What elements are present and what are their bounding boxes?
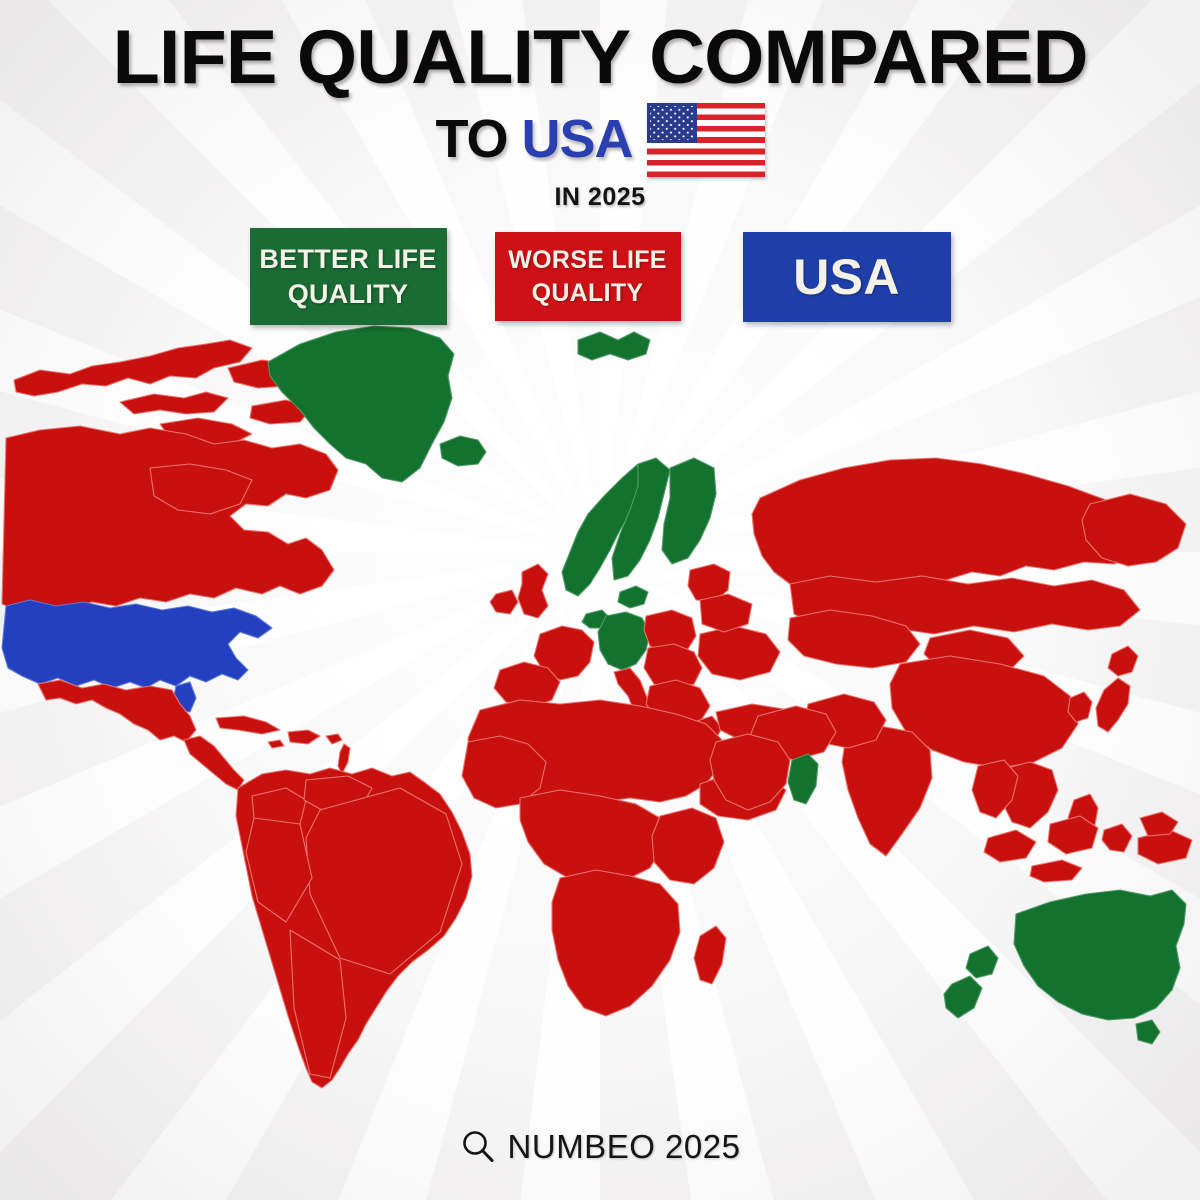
search-icon — [460, 1129, 496, 1165]
source-text: NUMBEO 2025 — [508, 1128, 741, 1166]
country-tasmania — [1136, 1020, 1160, 1044]
country-africa-central — [520, 790, 664, 884]
legend: BETTER LIFE QUALITY WORSE LIFE QUALITY U… — [0, 228, 1200, 325]
subtitle-usa-word: USA — [522, 109, 633, 169]
country-oman — [788, 754, 818, 804]
legend-item-worse-life-quality[interactable]: WORSE LIFE QUALITY — [495, 232, 681, 321]
country-denmark — [618, 586, 648, 608]
country-mexico — [38, 680, 196, 742]
country-africa-east — [652, 808, 724, 884]
flag-canton — [647, 103, 697, 143]
country-germany — [598, 612, 650, 670]
map-region-asia — [710, 458, 1192, 882]
country-cuba — [216, 716, 280, 734]
subtitle-row: TO USA — [0, 101, 1200, 177]
country-canada — [2, 426, 338, 610]
country-puerto-rico — [326, 734, 342, 744]
infographic-canvas: LIFE QUALITY COMPARED TO USA IN 2025 BET… — [0, 0, 1200, 1200]
source-attribution: NUMBEO 2025 — [0, 1128, 1200, 1166]
flag-stars — [650, 106, 694, 140]
world-map: .w{fill:#c8100f;stroke:#ea736d;stroke-wi… — [0, 318, 1200, 1108]
country-iceland — [440, 436, 486, 466]
country-central-america — [184, 736, 244, 790]
subtitle-prefix: TO — [435, 109, 507, 169]
country-canada-island-1 — [120, 392, 228, 414]
country-papua-new-guinea — [1138, 830, 1192, 864]
country-sulawesi — [1102, 824, 1132, 852]
country-ukraine — [698, 626, 780, 680]
country-new-zealand-north — [966, 946, 998, 978]
legend-worse-label-line2: QUALITY — [532, 277, 644, 310]
country-japan — [1096, 678, 1130, 732]
country-australia — [1014, 890, 1186, 1020]
map-region-south-america — [236, 768, 472, 1088]
page-title: LIFE QUALITY COMPARED — [0, 0, 1200, 95]
country-japan-north — [1108, 646, 1138, 676]
country-hispaniola — [288, 730, 320, 744]
legend-item-better-life-quality[interactable]: BETTER LIFE QUALITY — [250, 228, 447, 325]
world-map-svg: .w{fill:#c8100f;stroke:#ea736d;stroke-wi… — [0, 318, 1200, 1108]
country-svalbard — [578, 332, 650, 360]
country-jamaica — [268, 740, 284, 748]
country-new-zealand-south — [944, 976, 982, 1018]
header: LIFE QUALITY COMPARED TO USA IN 2025 — [0, 0, 1200, 212]
country-united-kingdom — [518, 564, 548, 618]
map-region-north-america — [0, 318, 486, 790]
country-belarus — [700, 594, 752, 632]
country-lesser-antilles — [338, 744, 350, 774]
country-finland — [662, 458, 716, 564]
legend-item-usa[interactable]: USA — [743, 232, 951, 322]
country-ireland — [490, 590, 518, 614]
page-subtitle: TO USA — [435, 112, 632, 166]
legend-better-label-line2: QUALITY — [288, 277, 409, 312]
country-united-states — [2, 600, 272, 688]
map-region-oceania — [944, 890, 1186, 1044]
subtitle-year: IN 2025 — [0, 183, 1200, 212]
country-indonesia-sumatra — [984, 830, 1036, 862]
us-flag-icon — [647, 103, 765, 177]
legend-worse-label-line1: WORSE LIFE — [508, 244, 667, 277]
legend-better-label-line1: BETTER LIFE — [259, 242, 436, 277]
country-indonesia-java — [1030, 860, 1082, 882]
country-madagascar — [694, 926, 726, 984]
legend-usa-label: USA — [793, 252, 899, 302]
country-canada-arctic — [14, 340, 252, 396]
country-africa-south — [552, 870, 680, 1016]
